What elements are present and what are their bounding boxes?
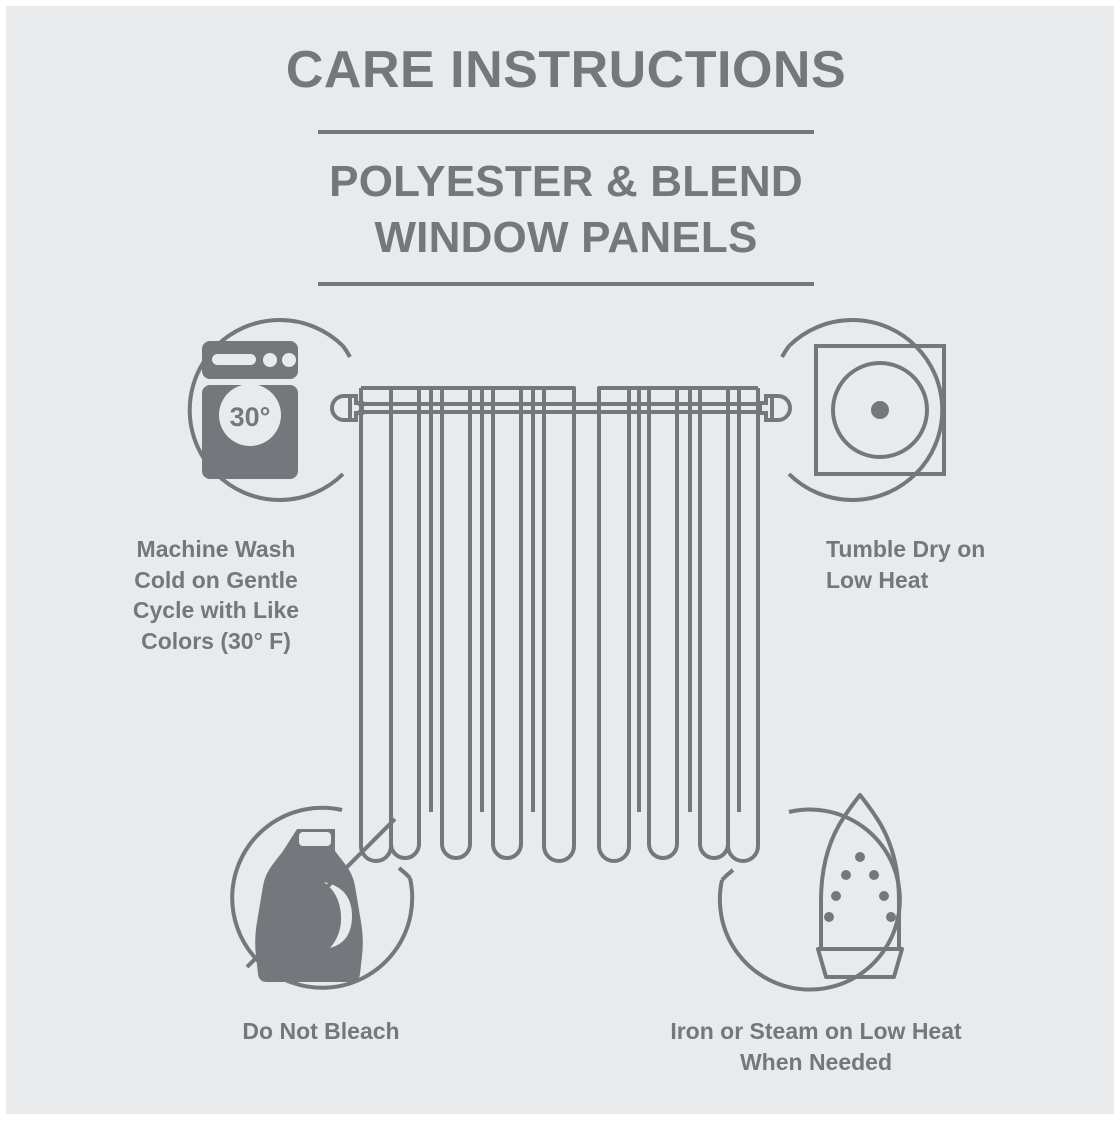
right-curtain-panel — [599, 388, 758, 861]
machine-wash-caption-line-2: Cold on Gentle — [66, 565, 366, 596]
page-subtitle-line-1: POLYESTER & BLEND — [6, 154, 1120, 210]
do-not-bleach-caption-line-1: Do Not Bleach — [156, 1016, 486, 1047]
divider-top — [318, 130, 814, 134]
do-not-bleach-caption: Do Not Bleach — [156, 1016, 486, 1047]
machine-wash-ring-arc-upper — [343, 346, 350, 357]
bleach-bottle-cap — [299, 832, 331, 846]
right-finial — [760, 396, 790, 420]
tumble-dry-caption: Tumble Dry on Low Heat — [826, 534, 1106, 595]
iron-ring-arc-lower — [722, 870, 733, 880]
iron-caption: Iron or Steam on Low Heat When Needed — [606, 1016, 1026, 1077]
page-title: CARE INSTRUCTIONS — [6, 44, 1120, 96]
iron-icon-group — [720, 795, 902, 990]
tumble-dry-caption-line-1: Tumble Dry on — [826, 534, 1106, 565]
washer-knob-1 — [263, 353, 277, 367]
divider-bottom — [318, 282, 814, 286]
iron-soleplate-icon — [818, 795, 902, 977]
wash-temperature-label: 30° — [230, 402, 271, 432]
machine-wash-caption-line-3: Cycle with Like — [66, 595, 366, 626]
machine-wash-caption-line-1: Machine Wash — [66, 534, 366, 565]
machine-wash-caption-line-4: Colors (30° F) — [66, 626, 366, 657]
tumble-dry-caption-line-2: Low Heat — [826, 565, 1106, 596]
iron-caption-line-2: When Needed — [606, 1047, 1026, 1078]
machine-wash-caption: Machine Wash Cold on Gentle Cycle with L… — [66, 534, 366, 656]
curtain-rod-assembly — [332, 396, 790, 420]
machine-wash-icon-group: 30° — [190, 320, 350, 500]
tumble-dry-ring-arc-upper — [782, 346, 789, 357]
left-curtain-panel — [361, 388, 574, 861]
no-bleach-icon-group — [232, 808, 412, 988]
iron-steam-holes — [824, 852, 896, 922]
left-finial — [332, 396, 362, 420]
iron-caption-line-1: Iron or Steam on Low Heat — [606, 1016, 1026, 1047]
page-subtitle: POLYESTER & BLEND WINDOW PANELS — [6, 154, 1120, 267]
care-instructions-card: 30° — [0, 0, 1120, 1120]
no-bleach-ring-arc-lower — [399, 868, 410, 878]
washer-knob-2 — [282, 353, 296, 367]
iron-ring — [720, 810, 900, 990]
page-subtitle-line-2: WINDOW PANELS — [6, 210, 1120, 266]
dryer-center-dot — [871, 401, 889, 419]
washer-control-slot — [212, 354, 256, 365]
tumble-dry-icon-group — [782, 320, 944, 500]
